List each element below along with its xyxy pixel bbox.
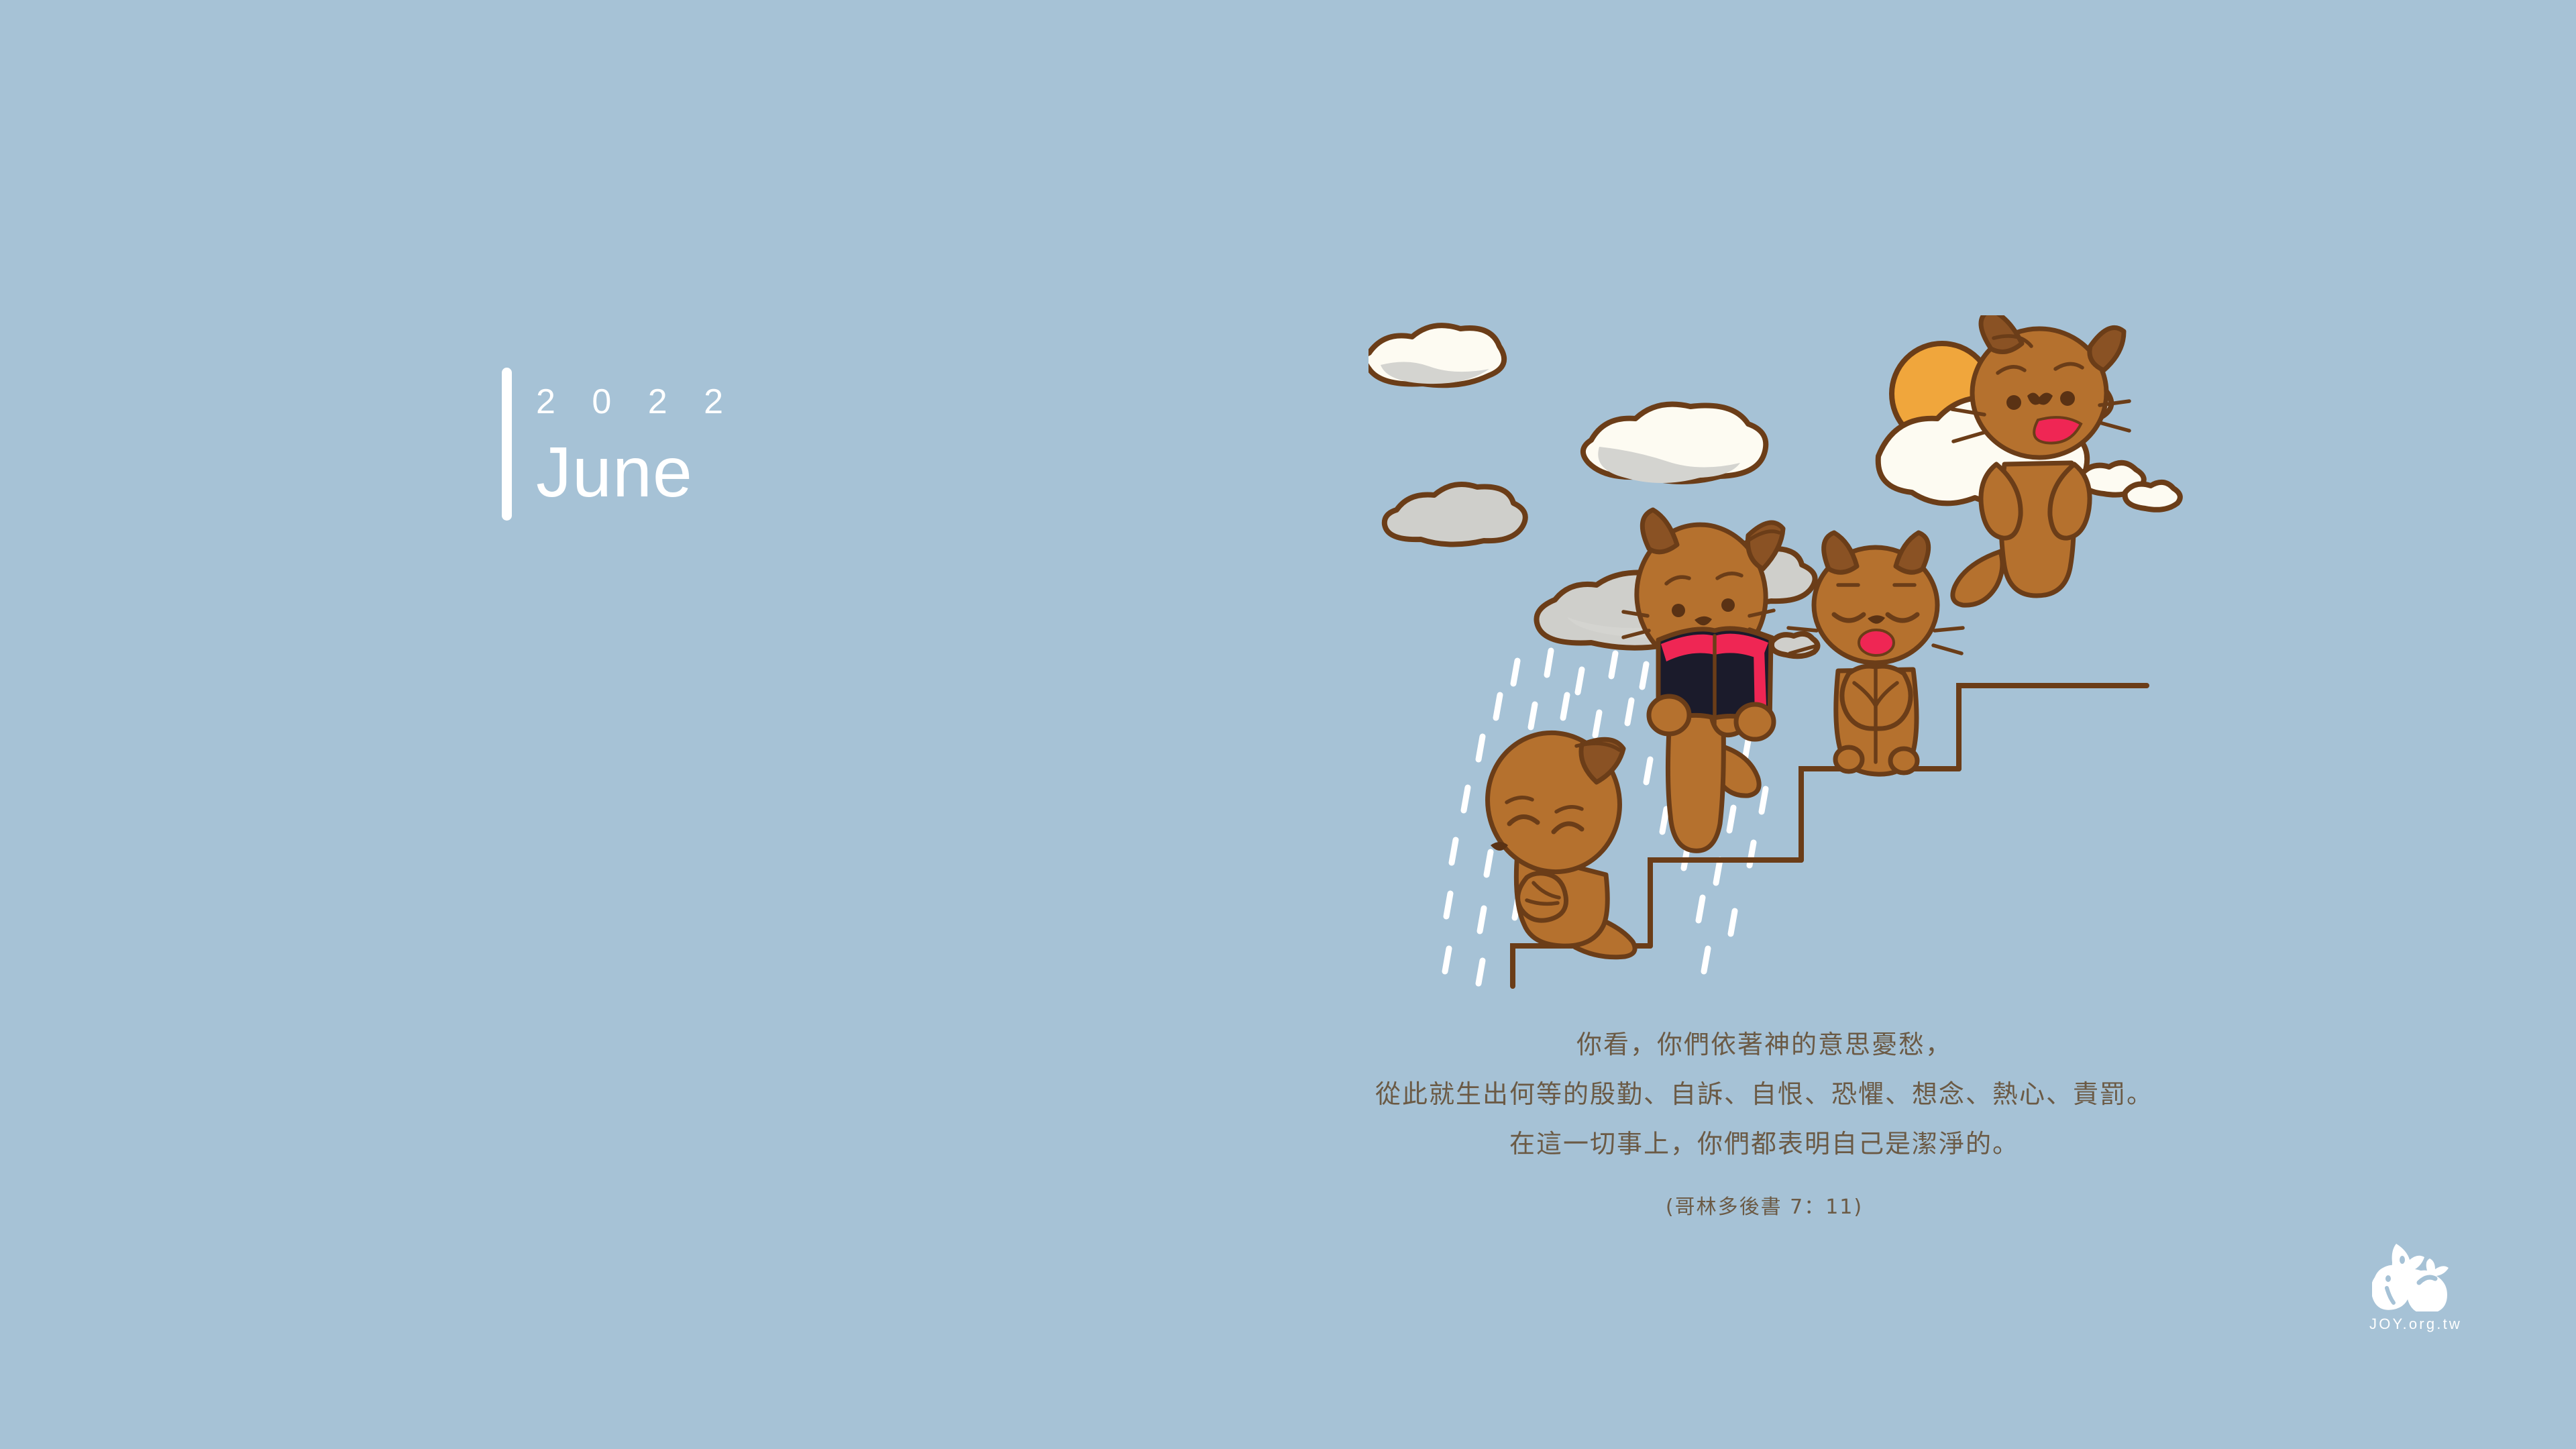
- month-label: June: [536, 435, 737, 510]
- date-vertical-rule: [502, 368, 512, 521]
- verse-line-1: 你看，你們依著神的意思憂愁，: [1275, 1020, 2254, 1069]
- cat-sad: [1471, 717, 1636, 957]
- year-label: 2 0 2 2: [536, 384, 737, 419]
- date-text-group: 2 0 2 2 June: [536, 368, 737, 521]
- verse-line-2: 從此就生出何等的殷勤、自訴、自恨、恐懼、想念、熱心、責罰。: [1275, 1069, 2254, 1119]
- scripture-block: 你看，你們依著神的意思憂愁， 從此就生出何等的殷勤、自訴、自恨、恐懼、想念、熱心…: [1275, 1020, 2254, 1220]
- wallpaper-canvas: 2 0 2 2 June .co { fill:#b5712e; stroke:…: [0, 0, 2576, 1449]
- joy-logo[interactable]: JOY.org.tw: [2368, 1241, 2495, 1348]
- cat-reading: [1623, 510, 1783, 851]
- cats-stairs-illustration: .co { fill:#b5712e; stroke:#6b3d18; stro…: [1368, 315, 2241, 1040]
- cloud-lower-left: [1385, 484, 1525, 545]
- verse-line-3: 在這一切事上，你們都表明自己是潔淨的。: [1275, 1119, 2254, 1169]
- cloud-top-left: [1368, 325, 1504, 385]
- logo-text: JOY.org.tw: [2369, 1316, 2495, 1333]
- cloud-tiny-right: [2125, 482, 2180, 510]
- verse-reference: (哥林多後書 7：11): [1275, 1190, 2254, 1220]
- joy-bird-logo-icon: [2372, 1241, 2459, 1311]
- date-block: 2 0 2 2 June: [502, 368, 737, 521]
- cloud-mid-left: [1583, 405, 1766, 483]
